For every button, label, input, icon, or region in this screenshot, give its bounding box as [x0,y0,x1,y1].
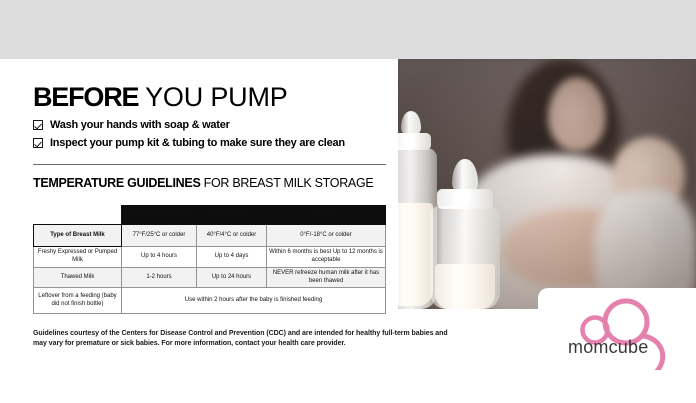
pre-pump-checklist: Wash your hands with soap & water Inspec… [33,117,383,153]
checkbox-checked-icon[interactable] [33,138,43,148]
section-title-bold: TEMPERATURE GUIDELINES [33,176,201,190]
row-header-leftover: Leftover from a feeding (baby did not fi… [34,288,122,314]
cell-fresh-freezer: Within 6 months is best Up to 12 months … [267,247,386,268]
headline-bold: BEFORE [33,82,138,112]
cell-refrigerator-value: 40°F/4°C or colder [197,225,267,247]
table-header-row: Room Temperature Refrigerator Freezer [34,206,386,225]
breastfeeding-photo [398,59,696,309]
checklist-item-label: Inspect your pump kit & tubing to make s… [50,137,345,149]
top-grey-band [0,0,696,59]
section-title-light: FOR BREAST MILK STORAGE [201,176,374,190]
column-header-freezer: Freezer [267,206,386,225]
row-header-fresh-milk: Freshy Expressed or Pumped Milk [34,247,122,268]
cell-thawed-freezer: NEVER refreeze human milk after it has b… [267,268,386,288]
checklist-item[interactable]: Inspect your pump kit & tubing to make s… [33,135,383,151]
momcube-bubbles-icon [552,292,692,370]
checkbox-checked-icon[interactable] [33,120,43,130]
momcube-logo[interactable]: momcube [552,292,692,370]
table-corner-blank [34,206,122,225]
infographic-banner: BEFORE YOU PUMP Wash your hands with soa… [0,0,696,403]
row-header-thawed-milk: Thawed Milk [34,268,122,288]
storage-guidelines-table: Room Temperature Refrigerator Freezer Ty… [33,205,386,314]
page-title: BEFORE YOU PUMP [33,83,288,111]
checklist-item[interactable]: Wash your hands with soap & water [33,117,383,133]
table-row: Thawed Milk 1-2 hours Up to 24 hours NEV… [34,268,386,288]
checklist-item-label: Wash your hands with soap & water [50,119,230,131]
row-header-type-of-breast-milk: Type of Breast Milk [34,225,122,247]
bottle-nipple [452,159,478,193]
section-divider [33,164,386,165]
cell-freezer-value: 0°F/-18°C or colder [267,225,386,247]
cell-room-temp-value: 77°F/25°C or colder [122,225,197,247]
headline-light: YOU PUMP [138,82,287,112]
cell-thawed-room-temp: 1-2 hours [122,268,197,288]
column-header-room-temperature: Room Temperature [122,206,197,225]
content-column: BEFORE YOU PUMP Wash your hands with soa… [0,59,398,403]
table-row: Freshy Expressed or Pumped Milk Up to 4 … [34,247,386,268]
bottle-milk [435,264,495,309]
cell-fresh-refrigerator: Up to 4 days [197,247,267,268]
section-title: TEMPERATURE GUIDELINES FOR BREAST MILK S… [33,176,373,190]
cell-fresh-room-temp: Up to 4 hours [122,247,197,268]
momcube-wordmark: momcube [568,337,648,358]
column-header-refrigerator: Refrigerator [197,206,267,225]
cell-thawed-refrigerator: Up to 24 hours [197,268,267,288]
bottle-nipple [401,111,421,135]
table-row: Leftover from a feeding (baby did not fi… [34,288,386,314]
table-row-temperatures: Type of Breast Milk 77°F/25°C or colder … [34,225,386,247]
footnote-text: Guidelines courtesy of the Centers for D… [33,329,453,349]
cell-leftover-span: Use within 2 hours after the baby is fin… [122,288,386,314]
logo-card: momcube [538,288,696,403]
baby-bottle-front [426,159,504,309]
